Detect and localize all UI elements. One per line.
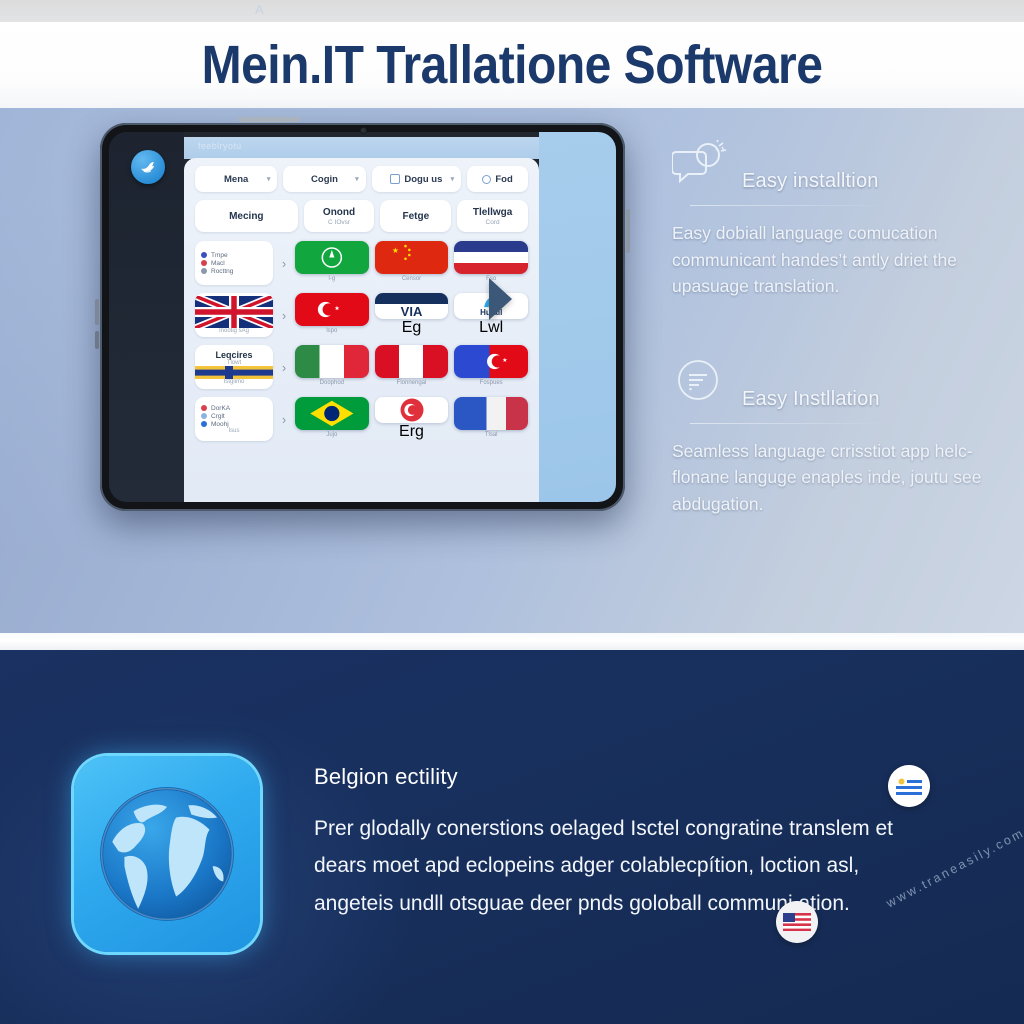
card-title: Tlellwga [473,207,512,218]
grid-left-card[interactable]: Tmpe Macl Rocttng [195,241,273,285]
chevron-right-icon[interactable]: › [279,256,289,271]
feature-body: Easy dobiall language comucation communi… [672,220,992,300]
page-title: Mein.IT Trallatione Software [202,34,823,96]
language-tile[interactable]: l-g [295,241,369,285]
card-subtitle: Cord [486,219,500,226]
flag-icon [454,345,528,378]
uk-flag-icon [195,296,273,328]
triangle-right-icon[interactable] [489,278,512,320]
tile-caption: Eg [402,319,422,337]
globe-tile-wrap [74,756,264,956]
section-divider [0,633,1024,650]
language-tile[interactable]: Jujo [295,397,369,441]
language-tile[interactable]: Doophod [295,345,369,389]
feature-list: Easy installtion Easy dobiall language c… [672,140,992,576]
app-topbar-label: feeblryotu [198,141,242,151]
left-card-line: Moohj [211,421,229,428]
toolbar-pill-cogin[interactable]: Cogin ▾ [283,166,365,192]
tile-caption: Flonnengal [397,380,427,386]
chevron-down-icon: ▾ [451,175,455,183]
toolbar-pill-label: Fod [495,174,512,185]
card-title: Mecing [229,211,263,222]
app-sheet: Mena ▾ Cogin ▾ Dogu us ▾ [184,158,539,502]
card-fetge[interactable]: Fetge [380,200,451,232]
card-onond[interactable]: Onond C IOvsr [304,200,375,232]
tile-caption: l-g [329,276,336,282]
feature-divider [690,205,890,206]
left-card-line: Crglt [211,413,225,420]
grid-left-card[interactable]: Leqcires Tlowt Istglimo [195,345,273,389]
flag-icon [295,241,369,274]
language-tile[interactable]: Tlsal [454,397,528,441]
flag-icon [375,241,449,274]
globe-icon[interactable] [74,756,260,952]
language-grid-row: Leqcires Tlowt Istglimo [195,345,528,389]
left-card-subtitle: Istglimo [195,379,273,385]
grid-left-card[interactable]: DorKA Crglt Moohj Isus [195,397,273,441]
flag-icon [295,397,369,430]
tablet-device: feeblryotu Mena ▾ Cogin ▾ [100,123,625,511]
tablet-volume-up-button[interactable] [95,299,99,325]
flag-icon [454,397,528,430]
card-subtitle: C IOvsr [328,219,350,226]
toolbar-pill-label: Mena [224,174,248,185]
language-tile[interactable]: Erg [375,397,449,441]
language-tile[interactable]: lspo [295,293,369,337]
language-grid-row: Inootig sAg › [195,293,528,337]
left-card-line: Tmpe [211,252,228,259]
dot-icon [201,413,207,419]
feature-title: Easy Instllation [742,358,880,411]
app-topbar: feeblryotu [184,137,539,159]
via-label: VIA [401,304,423,319]
flag-icon [295,293,369,326]
feature-title: Easy installtion [742,140,879,193]
tablet-volume-down-button[interactable] [95,331,99,349]
tile-caption: lspo [326,328,337,334]
turkey-circle-icon [375,397,449,423]
us-flag-badge [776,901,818,943]
card-row: Mecing Onond C IOvsr Fetge Tlellwga Cord [195,200,528,232]
tile-caption: Doophod [320,380,344,386]
chevron-down-icon: ▾ [267,175,271,183]
flag-icon [295,345,369,378]
card-title: Onond [323,207,355,218]
left-card-line: DorKA [211,405,230,412]
chevron-down-icon: ▾ [355,175,359,183]
left-card-line: Macl [211,260,225,267]
feature-divider [690,423,890,424]
tile-caption: Censor [402,276,421,282]
dot-icon [201,268,207,274]
tablet-screen: feeblryotu Mena ▾ Cogin ▾ [109,132,616,502]
chat-bubble-sparkle-icon [672,140,728,190]
chevron-right-icon[interactable]: › [279,308,289,323]
left-card-subtitle: Inootig sAg [195,328,273,334]
card-mecing[interactable]: Mecing [195,200,298,232]
feature-item: Easy Instllation Seamless language crris… [672,358,992,518]
uruguay-flag-badge [888,765,930,807]
circle-list-icon [672,358,728,408]
left-card-title: Leqcires [195,350,273,360]
toolbar-pill-label: Dogu us [404,174,442,185]
language-tile[interactable]: Censor [375,241,449,285]
feature-item: Easy installtion Easy dobiall language c… [672,140,992,300]
language-grid-row: DorKA Crglt Moohj Isus › [195,397,528,441]
toolbar-pill-fod[interactable]: Fod [467,166,528,192]
tablet-top-button[interactable] [238,117,300,122]
screen-right-panel [539,132,616,502]
language-grid-row: Tmpe Macl Rocttng › [195,241,528,285]
tile-caption: Lwl [479,319,503,337]
grid-left-card[interactable]: Inootig sAg [195,293,273,337]
bottom-text-block: Belgion ectility Prer glodally conerstio… [314,764,914,922]
bottom-title: Belgion ectility [314,764,914,790]
sweden-flag-icon [195,366,273,379]
language-grid: Tmpe Macl Rocttng › [195,241,528,441]
toolbar-pill-mena[interactable]: Mena ▾ [195,166,277,192]
flag-icon [375,345,449,378]
feature-body: Seamless language crrisstiot app helc-fl… [672,438,992,518]
language-tile[interactable]: Flonnengal [375,345,449,389]
toolbar-pill-doguus[interactable]: Dogu us ▾ [372,166,461,192]
left-card-subtitle: Isus [201,428,267,434]
chevron-right-icon[interactable]: › [279,412,289,427]
language-tile[interactable]: VIA Eg [375,293,449,337]
dot-icon [201,421,207,427]
dot-icon [201,260,207,266]
tablet-side-button[interactable] [626,209,630,253]
flag-icon [454,241,528,274]
dot-icon [201,252,207,258]
bird-icon[interactable] [131,150,165,184]
screen-left-panel [109,132,184,502]
bottom-body: Prer glodally conerstions oelaged Isctel… [314,810,914,922]
toolbar-pill-label: Cogin [311,174,338,185]
tile-caption: Erg [399,423,424,441]
toolbar-row: Mena ▾ Cogin ▾ Dogu us ▾ [195,166,528,192]
chevron-right-icon[interactable]: › [279,360,289,375]
card-tlellwga[interactable]: Tlellwga Cord [457,200,528,232]
via-card: VIA [375,293,449,319]
poster-root: A Mein.IT Trallatione Software feeblryot… [0,0,1024,1024]
front-camera-icon [361,128,366,133]
tile-caption: Jujo [326,432,337,438]
card-title: Fetge [402,211,429,222]
ghost-text: A [255,2,264,17]
tile-caption: Fospues [480,380,503,386]
dot-icon [201,405,207,411]
top-sliver: A [0,0,1024,22]
language-tile[interactable]: Fospues [454,345,528,389]
window-icon [390,174,400,184]
tile-caption: Tlsal [485,432,498,438]
left-card-line: Rocttng [211,268,233,275]
person-icon [482,175,491,184]
header-band: Mein.IT Trallatione Software [0,22,1024,108]
